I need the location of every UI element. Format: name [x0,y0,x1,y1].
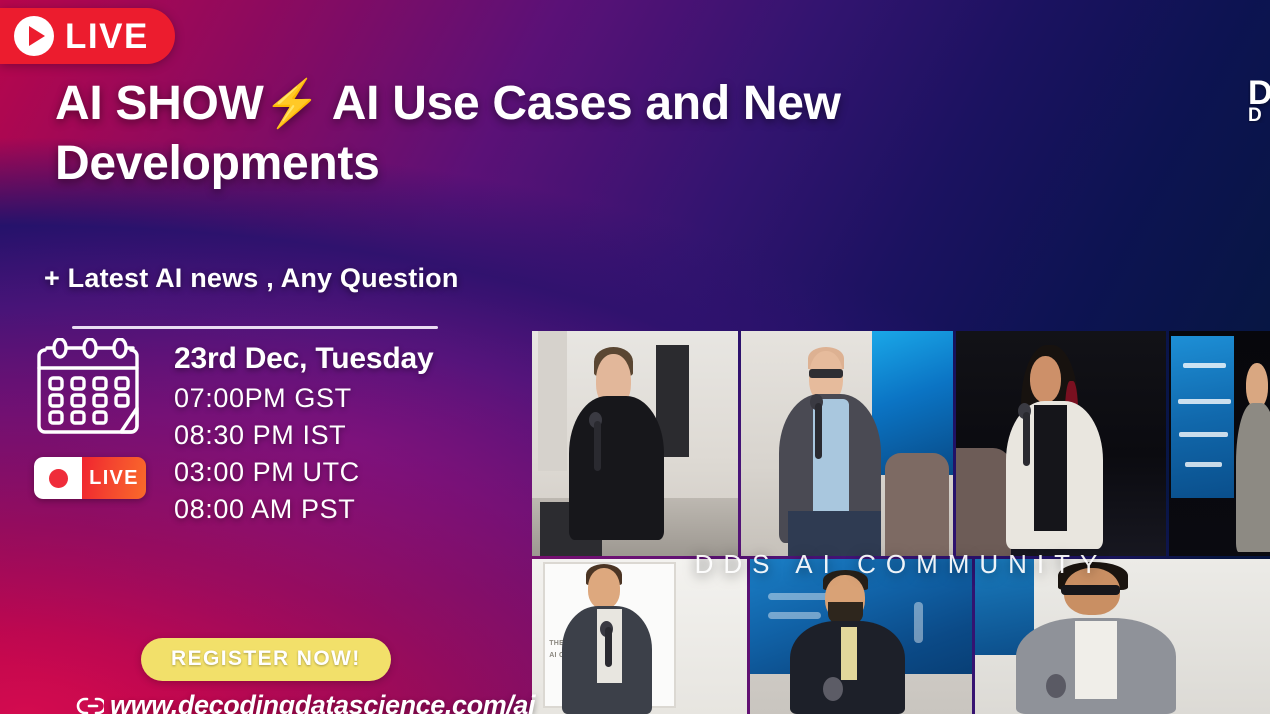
event-time-utc: 03:00 PM UTC [174,454,434,491]
event-time-pst: 08:00 AM PST [174,491,434,528]
brand-logo-cropped: D D [1248,80,1270,123]
section-divider [72,326,438,329]
schedule-icon-column: LIVE [28,338,152,499]
register-now-button[interactable]: REGISTER NOW! [141,638,391,681]
play-circle-icon [14,16,54,56]
speaker-photo-collage: THE APPLICAT AI COMPANI [532,331,1270,714]
speaker-photo-6 [750,559,972,714]
webinar-promo-poster: LIVE AI SHOW⚡ AI Use Cases and New Devel… [0,0,1270,714]
website-link[interactable]: www.decodingdatascience.com/ai [76,690,535,714]
speaker-photo-2 [741,331,953,556]
website-url-text: www.decodingdatascience.com/ai [110,690,535,714]
speaker-photo-4 [1169,331,1270,556]
live-badge-label: LIVE [65,19,149,54]
link-chain-icon [76,696,104,714]
record-dot-icon [34,457,82,499]
lightning-bolt-icon: ⚡ [264,77,321,129]
headline-part-1: AI SHOW [55,77,264,130]
event-time-gst: 07:00PM GST [174,380,434,417]
page-subtitle: + Latest AI news , Any Question [44,263,459,294]
speaker-photo-1 [532,331,738,556]
event-time-ist: 08:30 PM IST [174,417,434,454]
live-indicator-badge: LIVE [34,457,146,499]
speaker-photo-5: THE APPLICAT AI COMPANI [532,559,747,714]
live-indicator-label: LIVE [82,457,146,499]
page-title: AI SHOW⚡ AI Use Cases and New Developmen… [55,74,1015,193]
microphone-icon [1046,674,1066,698]
speaker-photo-3 [956,331,1166,556]
collage-row-top [532,331,1270,556]
speaker-photo-7 [975,559,1270,714]
collage-row-bottom: THE APPLICAT AI COMPANI [532,559,1270,714]
schedule-block: LIVE 23rd Dec, Tuesday 07:00PM GST 08:30… [28,338,434,528]
event-date: 23rd Dec, Tuesday [174,342,434,376]
headline-part-2: AI Use Cases and New [321,77,841,130]
headline-line-2: Developments [55,137,380,190]
live-badge: LIVE [0,8,175,64]
brand-logo-line-1: D [1248,80,1270,108]
microphone-icon [823,677,843,701]
schedule-times: 23rd Dec, Tuesday 07:00PM GST 08:30 PM I… [174,338,434,528]
calendar-icon [35,338,145,443]
